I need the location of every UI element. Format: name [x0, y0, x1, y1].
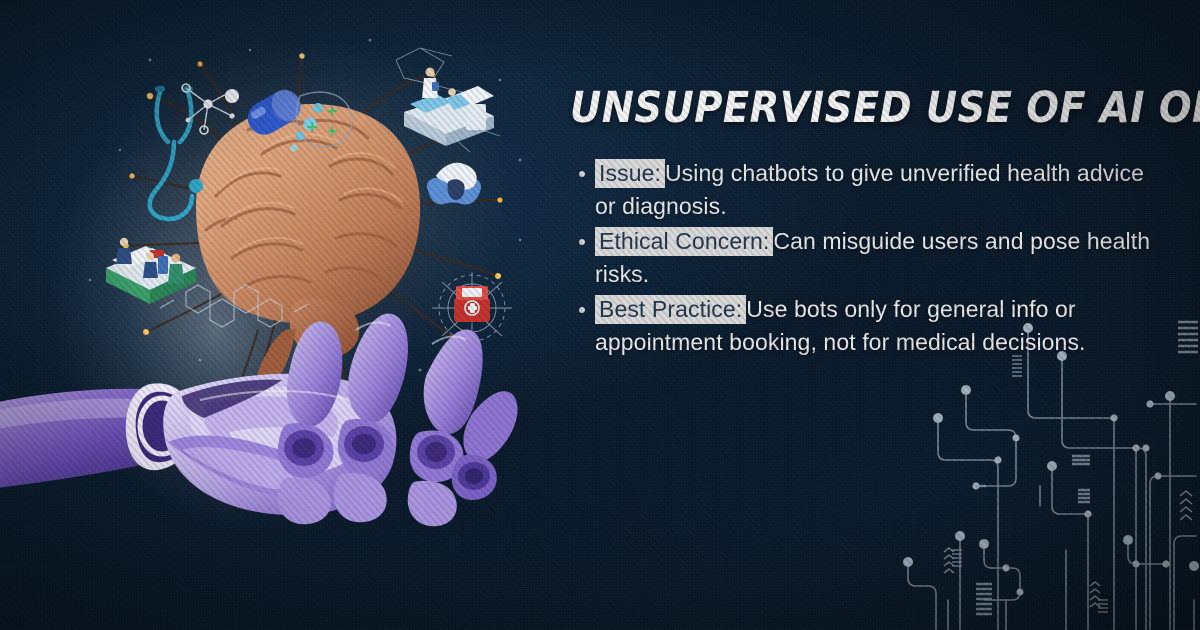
- text-column: UNSUPERVISED USE OF AI OR BOTS Issue:Usi…: [570, 86, 1160, 361]
- list-item: Ethical Concern:Can misguide users and p…: [570, 225, 1160, 292]
- bullet-text: Using chatbots to give unverified health…: [595, 160, 1144, 220]
- bullet-list: Issue:Using chatbots to give unverified …: [570, 157, 1160, 360]
- svg-text:+: +: [306, 118, 319, 136]
- slide-canvas: +++: [0, 0, 1200, 630]
- bullet-label: Issue:: [595, 159, 665, 188]
- hero-artwork: +++: [0, 0, 560, 630]
- bullet-label: Best Practice:: [595, 295, 746, 324]
- page-title: UNSUPERVISED USE OF AI OR BOTS: [570, 86, 1098, 132]
- doctor-figure: [422, 68, 439, 99]
- list-item: Issue:Using chatbots to give unverified …: [570, 157, 1160, 224]
- bullet-label: Ethical Concern:: [595, 227, 773, 256]
- list-item: Best Practice:Use bots only for general …: [570, 293, 1160, 360]
- svg-text:+: +: [326, 122, 339, 140]
- svg-text:+: +: [326, 102, 339, 120]
